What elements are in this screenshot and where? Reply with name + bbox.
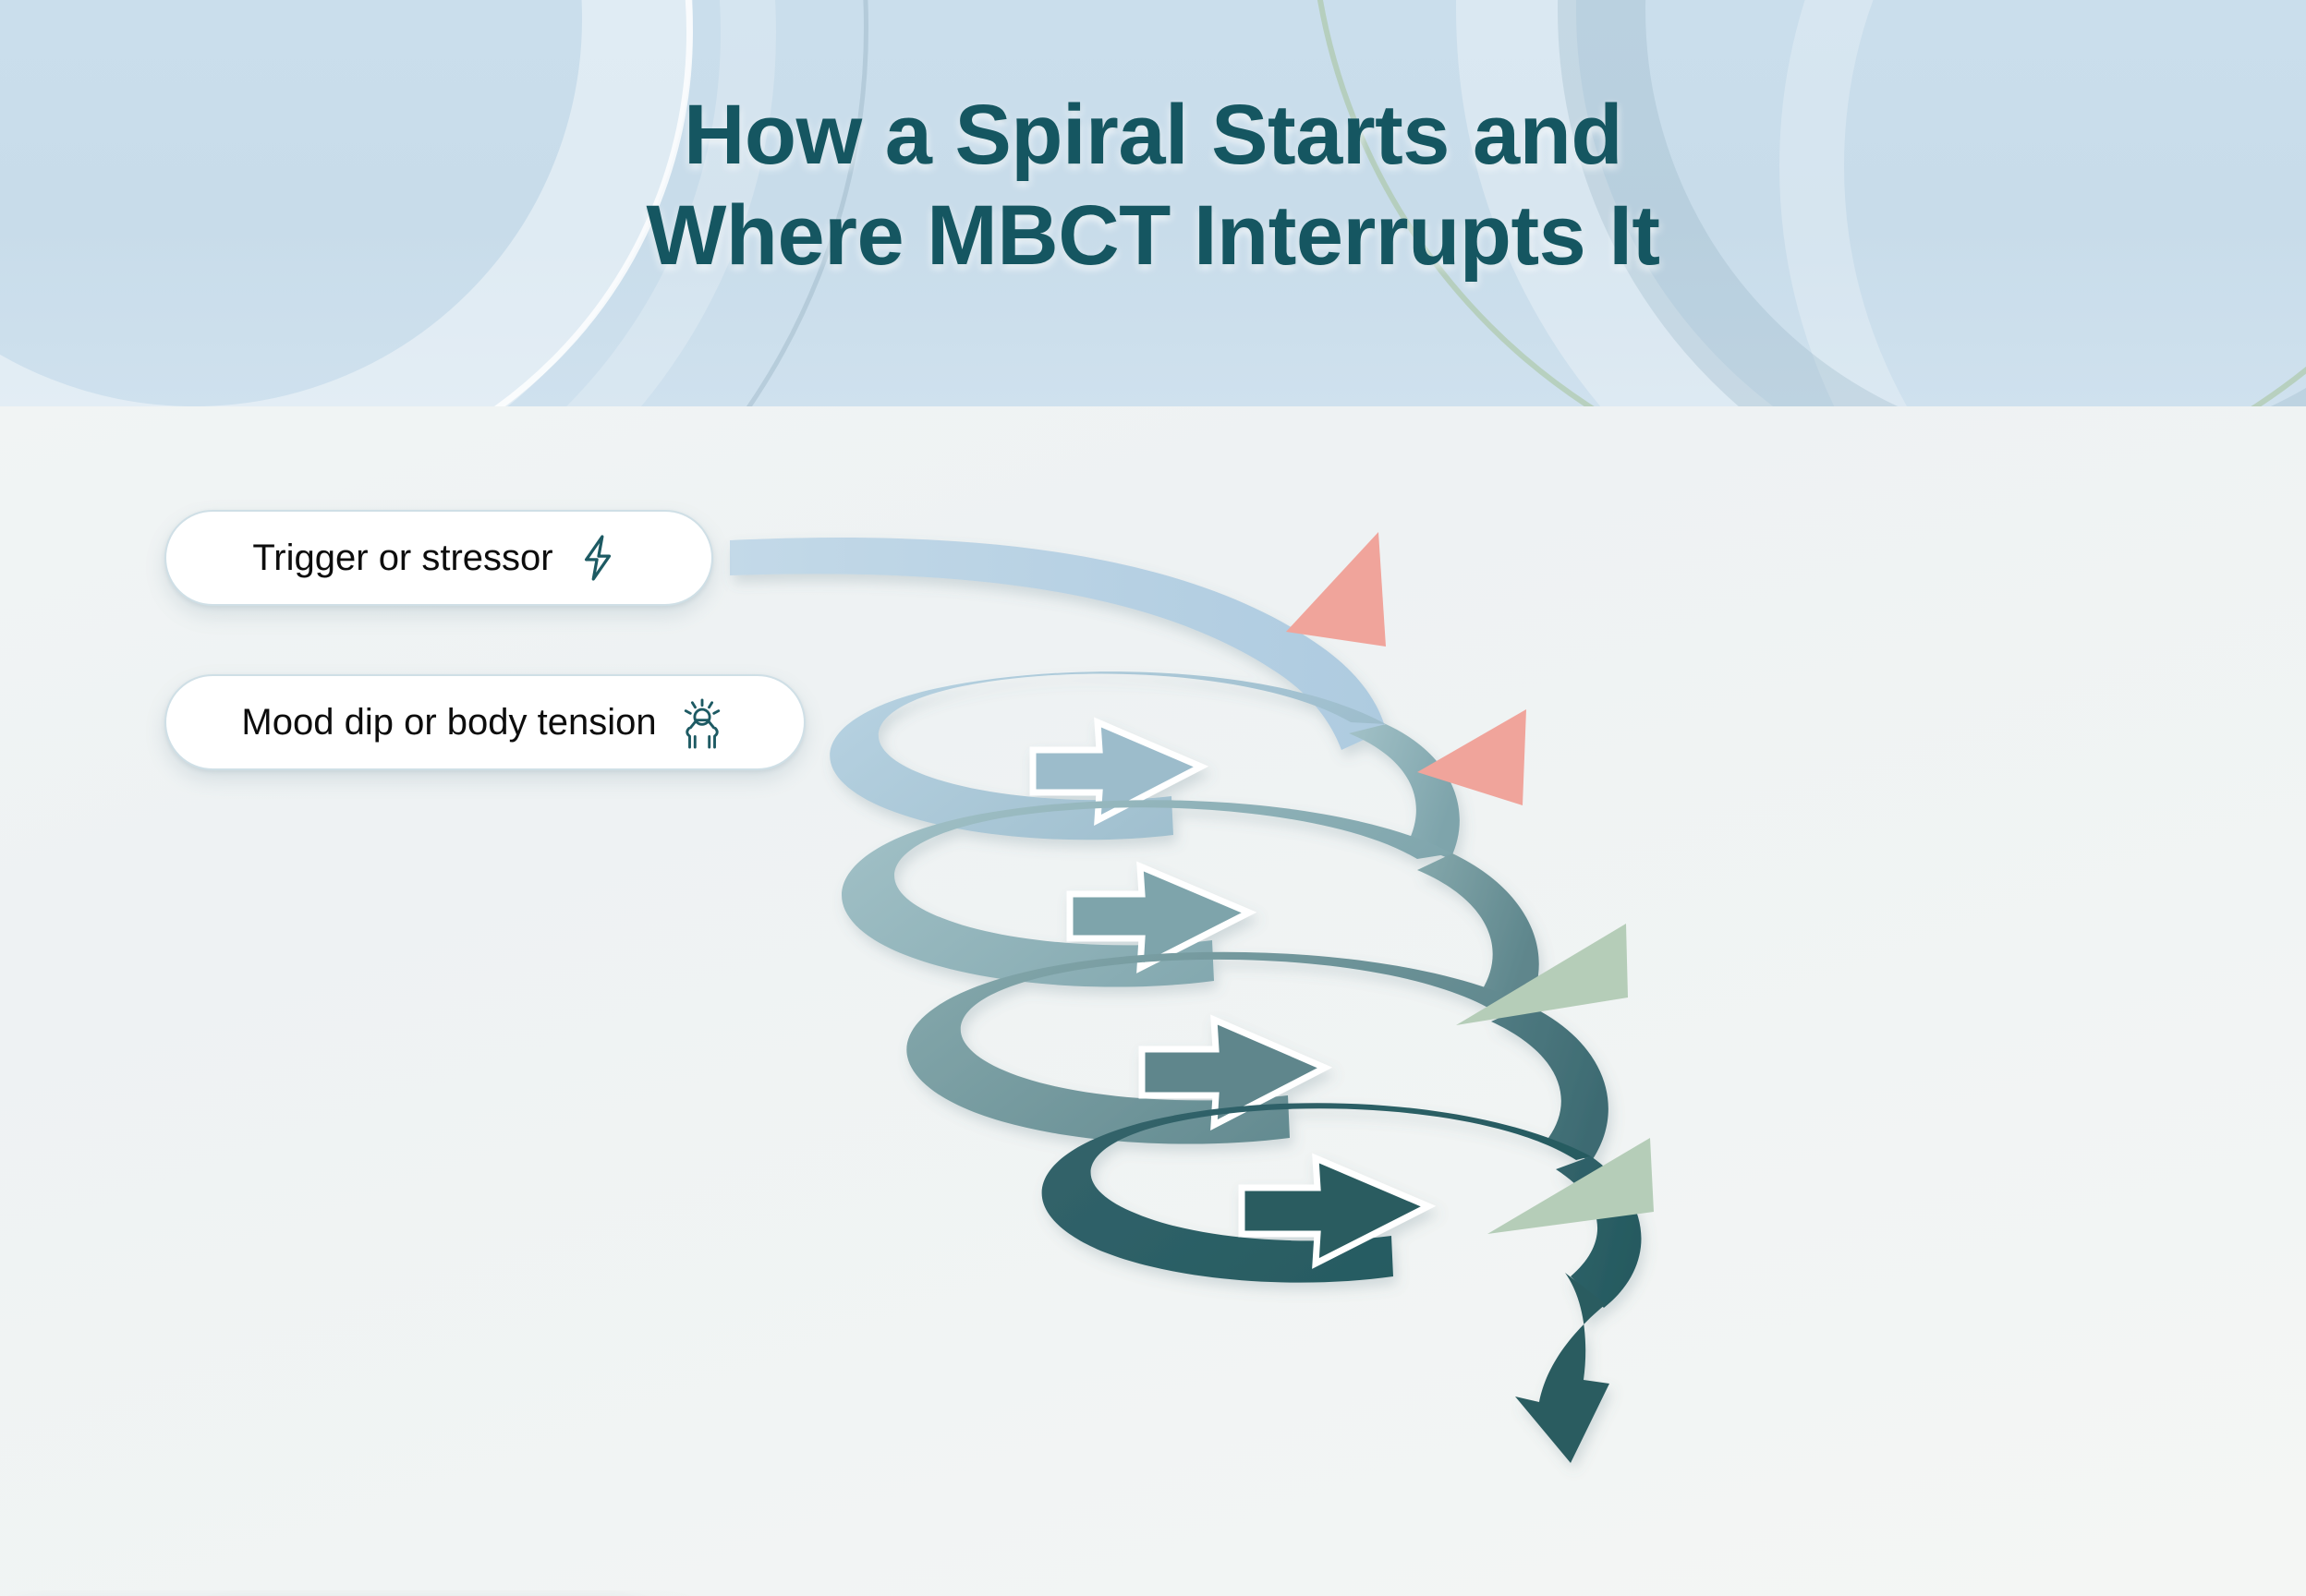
stage-icon-group <box>572 532 625 584</box>
stage-card-mood-dip[interactable]: Mood dip or body tension <box>164 674 806 770</box>
callout-tail-anchor <box>1456 924 1628 1025</box>
page-title-line-1: How a Spiral Starts and <box>0 85 2306 186</box>
stage-label: Mood dip or body tension <box>241 700 656 745</box>
stage-icon-group <box>675 694 729 751</box>
header-band: How a Spiral Starts and Where MBCT Inter… <box>0 0 2306 406</box>
stage-label: Trigger or stressor <box>252 536 552 581</box>
infographic-poster: How a Spiral Starts and Where MBCT Inter… <box>0 0 2306 1596</box>
page-title: How a Spiral Starts and Where MBCT Inter… <box>0 85 2306 285</box>
page-title-line-2: Where MBCT Interrupts It <box>0 186 2306 286</box>
callout-tail-notice <box>1286 532 1386 647</box>
stage-card-trigger[interactable]: Trigger or stressor <box>164 510 713 606</box>
bolt-icon <box>577 532 620 584</box>
head-tension-icon <box>677 694 727 751</box>
